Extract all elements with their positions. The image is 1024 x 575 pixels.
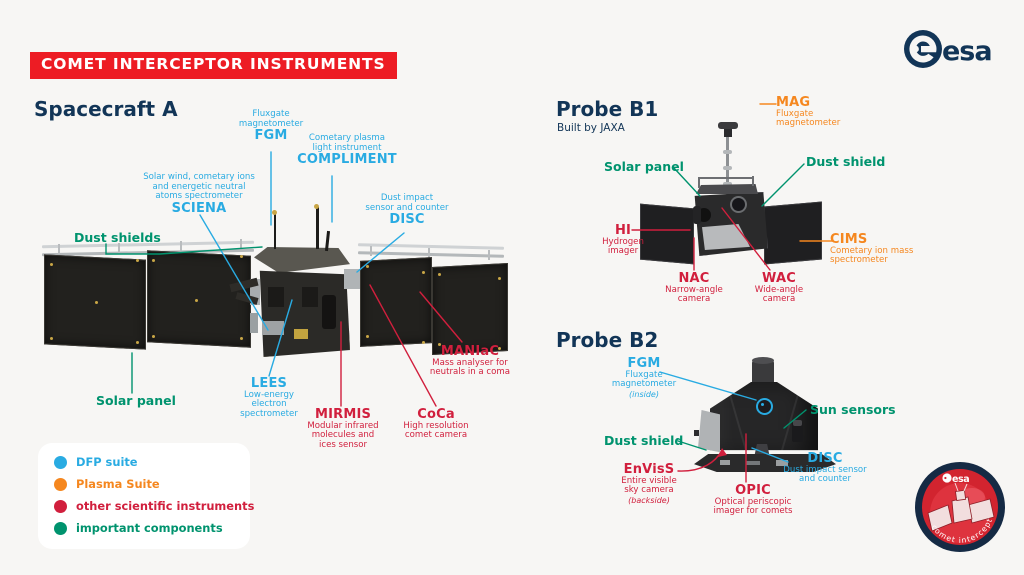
label-wac-desc-line2: camera	[740, 295, 818, 305]
label-mag: MAG Fluxgate magnetometer	[776, 96, 886, 129]
label-nac-desc-line2: camera	[652, 295, 736, 305]
legend-label-dfp: DFP suite	[76, 457, 138, 468]
label-lees-code: LEES	[227, 377, 311, 391]
label-cims-desc-line2: spectrometer	[830, 256, 942, 266]
label-wac-code: WAC	[740, 272, 818, 286]
label-maniac: MANIaC Mass analyser for neutrals in a c…	[416, 345, 524, 378]
label-hi-desc-line2: imager	[590, 247, 656, 257]
label-mag-code: MAG	[776, 96, 886, 110]
legend-panel: DFP suite Plasma Suite other scientific …	[38, 443, 250, 549]
section-subtitle-probe-b1: Built by JAXA	[557, 123, 625, 135]
esa-logo: esa	[902, 28, 1002, 74]
legend-label-plasma: Plasma Suite	[76, 479, 160, 490]
label-cims-code: CIMS	[830, 233, 942, 247]
label-hi-code: HI	[590, 224, 656, 238]
legend-dot-icon-dfp	[54, 456, 67, 469]
label-disc-b2-code: DISC	[770, 452, 880, 466]
label-compliment-code: COMPLIMENT	[287, 153, 407, 167]
legend-item-dfp-suite: DFP suite	[54, 456, 236, 469]
label-mirmis: MIRMIS Modular infrared molecules and ic…	[293, 408, 393, 451]
label-disc-spacecraft-a: Dust impact sensor and counter DISC	[352, 194, 462, 227]
mission-patch: esa comet interceptor	[914, 461, 1006, 553]
label-hi: HI Hydrogen imager	[590, 224, 656, 257]
label-coca-desc-line2: comet camera	[387, 431, 485, 441]
label-opic-desc-line2: imager for comets	[700, 507, 806, 517]
label-cims: CIMS Cometary ion mass spectrometer	[830, 233, 942, 266]
label-mirmis-code: MIRMIS	[293, 408, 393, 422]
label-coca-code: CoCa	[387, 408, 485, 422]
section-title-probe-b2: Probe B2	[556, 330, 658, 351]
label-fgm-b2-note: (inside)	[596, 390, 692, 399]
label-dust-shield-probe-b2: Dust shield	[604, 435, 683, 448]
label-dust-shields-spacecraft-a: Dust shields	[74, 232, 161, 245]
legend-dot-icon-plasma	[54, 478, 67, 491]
label-solar-panel-spacecraft-a: Solar panel	[96, 395, 176, 408]
label-dust-shield-probe-b1: Dust shield	[806, 156, 885, 169]
label-enviss-desc-line2: sky camera	[608, 486, 690, 496]
section-title-probe-b1: Probe B1	[556, 99, 658, 120]
label-maniac-desc-line2: neutrals in a coma	[416, 368, 524, 378]
legend-item-other-instruments: other scientific instruments	[54, 500, 236, 513]
page-title: Spacecraft A	[34, 99, 178, 120]
label-nac-code: NAC	[652, 272, 736, 286]
label-disc-b2-desc-line2: and counter	[770, 475, 880, 485]
label-opic-code: OPIC	[700, 484, 806, 498]
patch-esa-text: esa	[952, 474, 969, 485]
label-mag-desc-line2: magnetometer	[776, 119, 886, 129]
svg-text:esa: esa	[942, 36, 992, 67]
label-fgm-b2-code: FGM	[596, 357, 692, 371]
legend-dot-icon-other	[54, 500, 67, 513]
label-mirmis-desc-line3: ices sensor	[293, 441, 393, 451]
page-title-banner: COMET INTERCEPTOR INSTRUMENTS	[30, 52, 397, 79]
label-sciena: Solar wind, cometary ions and energetic …	[123, 173, 275, 216]
legend-label-components: important components	[76, 523, 223, 534]
label-enviss-note: (backside)	[608, 496, 690, 505]
label-fgm-b2-desc-line2: magnetometer	[596, 380, 692, 390]
label-disc-probe-b2: DISC Dust impact sensor and counter	[770, 452, 880, 485]
label-maniac-code: MANIaC	[416, 345, 524, 359]
label-compliment: Cometary plasma light instrument COMPLIM…	[287, 134, 407, 167]
label-sun-sensors-probe-b2: Sun sensors	[810, 404, 896, 417]
fgm-inside-marker	[756, 398, 773, 415]
infographic-canvas: COMET INTERCEPTOR INSTRUMENTS esa Spacec…	[0, 0, 1024, 575]
label-sciena-code: SCIENA	[123, 202, 275, 216]
label-solar-panel-probe-b1: Solar panel	[604, 161, 684, 174]
label-nac: NAC Narrow-angle camera	[652, 272, 736, 305]
label-wac: WAC Wide-angle camera	[740, 272, 818, 305]
label-fgm-probe-b2: FGM Fluxgate magnetometer (inside)	[596, 357, 692, 399]
legend-item-plasma-suite: Plasma Suite	[54, 478, 236, 491]
label-disc-a-code: DISC	[352, 213, 462, 227]
label-opic: OPIC Optical periscopic imager for comet…	[700, 484, 806, 517]
label-enviss-code: EnVisS	[608, 463, 690, 477]
legend-label-other: other scientific instruments	[76, 501, 254, 512]
legend-dot-icon-components	[54, 522, 67, 535]
label-enviss: EnVisS Entire visible sky camera (backsi…	[608, 463, 690, 505]
legend-item-important-components: important components	[54, 522, 236, 535]
label-coca: CoCa High resolution comet camera	[387, 408, 485, 441]
